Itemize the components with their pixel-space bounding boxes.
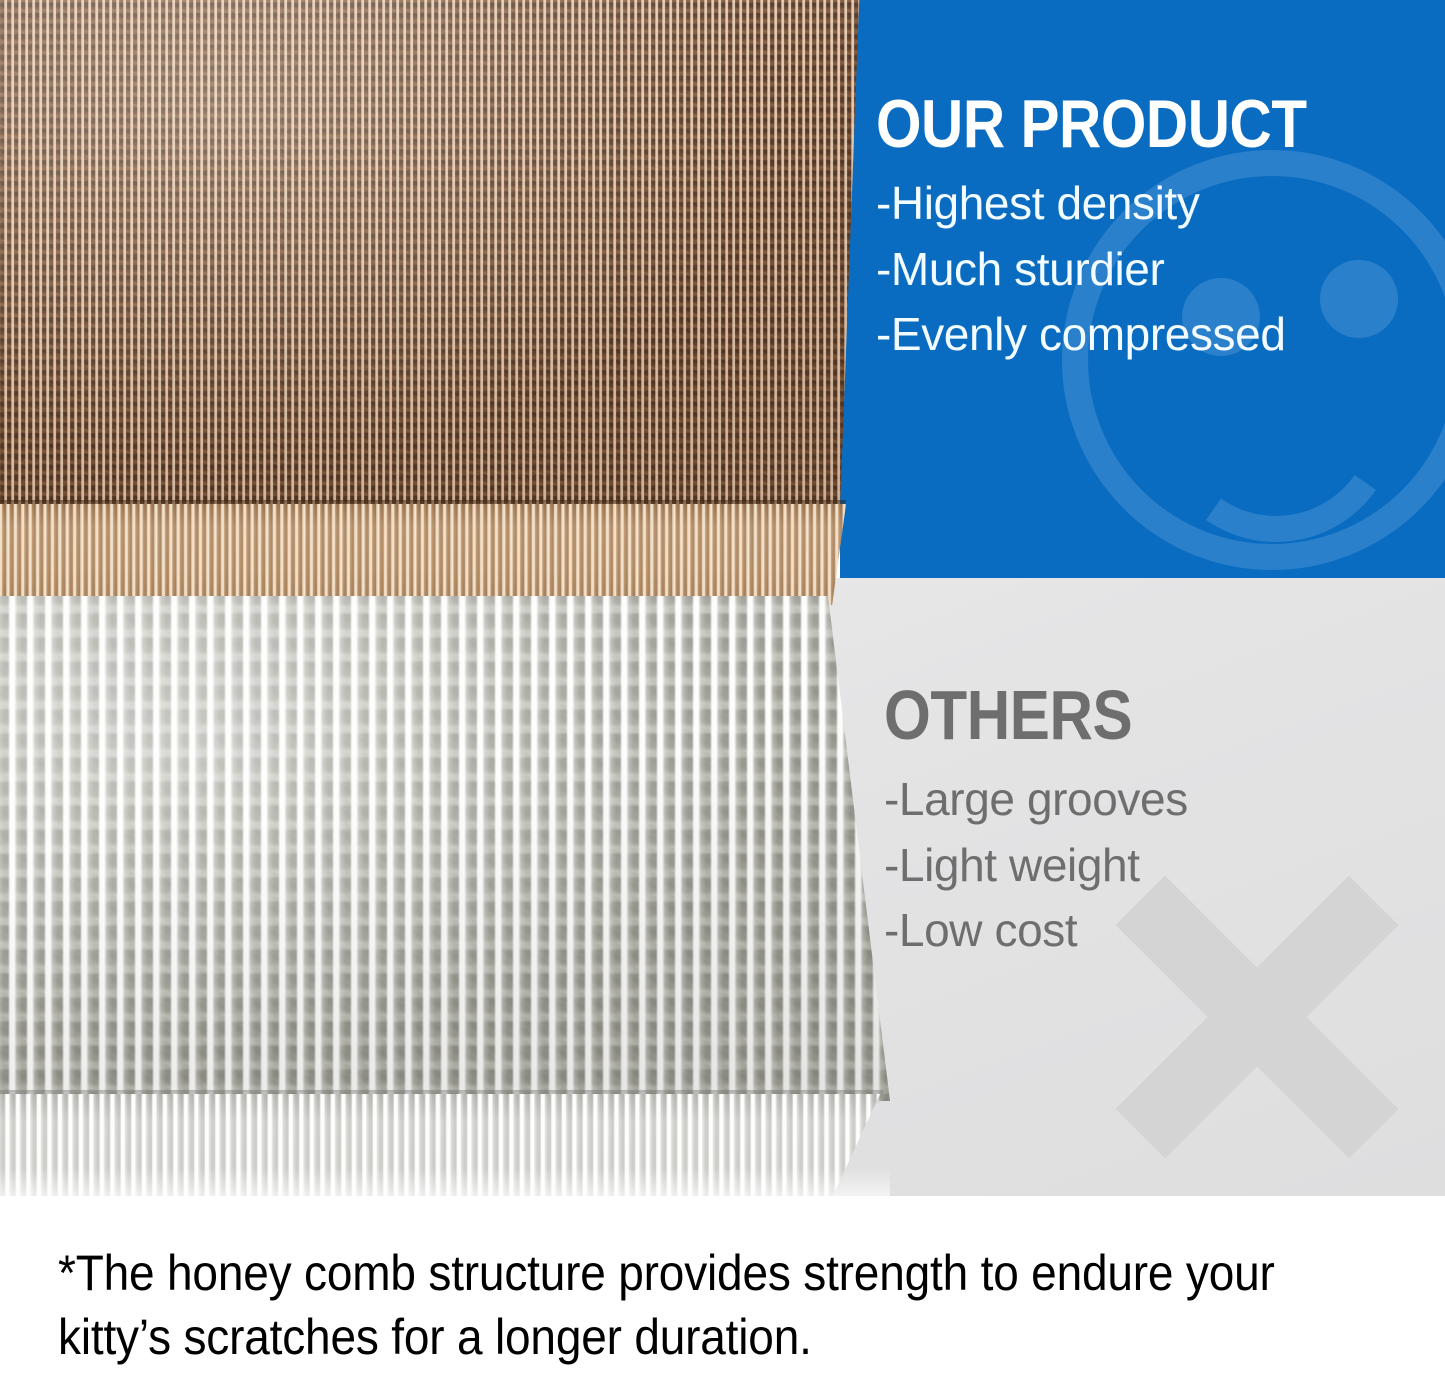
others-bullet-1: -Large grooves	[884, 767, 1444, 832]
our-product-text-block: OUR PRODUCT -Highest density -Much sturd…	[876, 92, 1436, 367]
brown-surface-shading	[0, 0, 860, 510]
white-honeycomb-board-photo	[0, 596, 890, 1196]
others-text-block: OTHERS -Large grooves -Light weight -Low…	[884, 682, 1444, 963]
others-heading: OTHERS	[884, 682, 1366, 749]
others-bullet-2: -Light weight	[884, 833, 1444, 898]
brown-fibrous-edge	[0, 504, 846, 606]
our-product-bullet-1: -Highest density	[876, 171, 1436, 236]
brown-honeycomb-board-photo	[0, 0, 860, 605]
product-comparison-infographic: OUR PRODUCT -Highest density -Much sturd…	[0, 0, 1445, 1374]
footnote-text: *The honey comb structure provides stren…	[58, 1242, 1309, 1369]
others-bullet-list: -Large grooves -Light weight -Low cost	[884, 767, 1444, 963]
our-product-bullet-2: -Much sturdier	[876, 237, 1436, 302]
white-surface-shading	[0, 596, 890, 1101]
our-product-bullet-3: -Evenly compressed	[876, 302, 1436, 367]
others-bullet-3: -Low cost	[884, 898, 1444, 963]
our-product-heading: OUR PRODUCT	[876, 92, 1358, 157]
comparison-media-region: OUR PRODUCT -Highest density -Much sturd…	[0, 0, 1445, 1200]
footnote-region: *The honey comb structure provides stren…	[0, 1196, 1445, 1374]
our-product-bullet-list: -Highest density -Much sturdier -Evenly …	[876, 171, 1436, 367]
